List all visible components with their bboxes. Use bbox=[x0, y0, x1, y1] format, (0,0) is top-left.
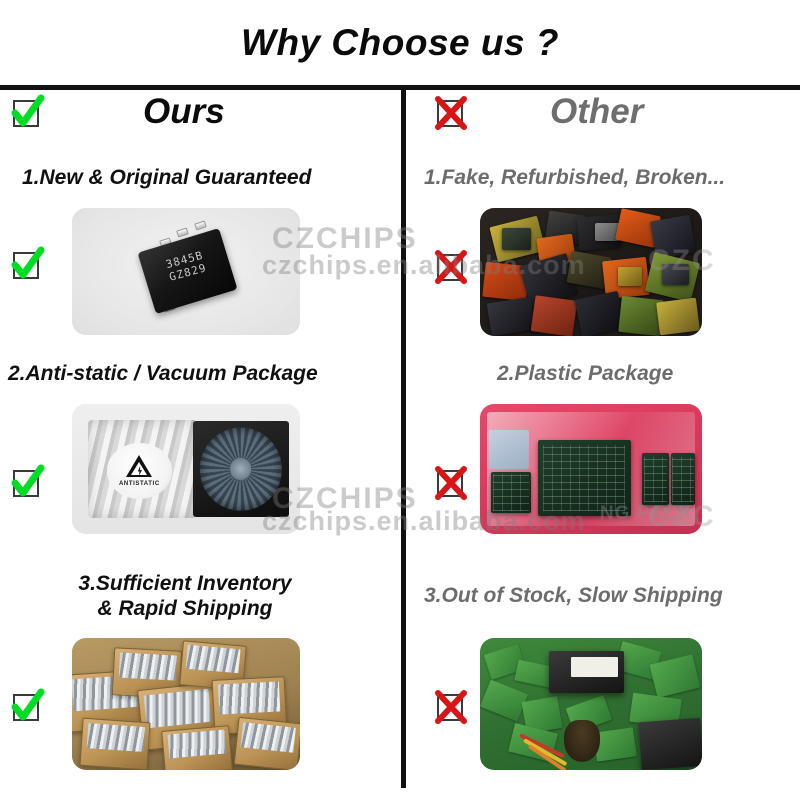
check-mark-icon-header-ours bbox=[10, 96, 44, 130]
pcb-right-b bbox=[671, 453, 695, 505]
check-glyph bbox=[10, 248, 44, 282]
wire-bundle bbox=[564, 720, 600, 762]
why-choose-us-comparison-graphic: Why Choose us ? Ours Other 1.New & Origi… bbox=[0, 0, 800, 800]
component-reel-disc bbox=[200, 428, 282, 511]
photo-plastic-bagged-pcbs: NG PACK bbox=[480, 404, 702, 534]
chip-marking: 3845B GZ829 bbox=[141, 242, 230, 289]
column-divider-rule bbox=[401, 88, 406, 788]
pcb-right-a bbox=[642, 453, 669, 505]
antistatic-label-disc: ANTISTATIC bbox=[107, 443, 173, 498]
other-row-2-text: 2.Plastic Package bbox=[497, 362, 673, 387]
esd-warning-triangle-icon bbox=[126, 455, 152, 477]
check-mark-icon-row-3 bbox=[10, 690, 44, 724]
lightning-bolt-icon bbox=[137, 466, 142, 476]
pcb-large bbox=[538, 440, 631, 515]
photo-stocked-cartons bbox=[72, 638, 300, 770]
cross-mark-icon-row-3 bbox=[434, 690, 468, 724]
check-glyph bbox=[10, 96, 44, 130]
pcb-small-left bbox=[491, 472, 531, 514]
antistatic-bag: ANTISTATIC bbox=[88, 420, 197, 519]
check-glyph bbox=[10, 466, 44, 500]
chip-body: 3845B GZ829 bbox=[137, 227, 237, 313]
column-header-other: Other bbox=[550, 92, 643, 132]
check-glyph bbox=[10, 690, 44, 724]
antistatic-label-text: ANTISTATIC bbox=[119, 481, 160, 487]
cross-glyph bbox=[434, 96, 468, 130]
check-mark-icon-row-1 bbox=[10, 248, 44, 282]
photo-original-chip: 3845B GZ829 bbox=[72, 208, 300, 335]
header-divider-rule bbox=[0, 85, 800, 90]
black-slab bbox=[638, 718, 702, 770]
photo-scrap-cpu-pile bbox=[480, 208, 702, 336]
cross-glyph bbox=[434, 690, 468, 724]
cross-glyph bbox=[434, 466, 468, 500]
pcb-bag-blue bbox=[489, 430, 529, 469]
other-row-1-text: 1.Fake, Refurbished, Broken... bbox=[424, 166, 725, 191]
photo-green-pcb-scrap bbox=[480, 638, 702, 770]
column-header-ours: Ours bbox=[143, 92, 225, 132]
cross-mark-icon-row-1 bbox=[434, 250, 468, 284]
cross-glyph bbox=[434, 250, 468, 284]
page-title: Why Choose us ? bbox=[0, 22, 800, 64]
photo-antistatic-vacuum-pack: ANTISTATIC bbox=[72, 404, 300, 534]
cross-mark-icon-row-2 bbox=[434, 466, 468, 500]
ours-row-2-text: 2.Anti-static / Vacuum Package bbox=[8, 362, 318, 387]
black-module bbox=[549, 651, 624, 693]
cross-mark-icon-header-other bbox=[434, 96, 468, 130]
ours-row-1-text: 1.New & Original Guaranteed bbox=[22, 166, 311, 191]
other-row-3-text: 3.Out of Stock, Slow Shipping bbox=[424, 584, 723, 609]
component-reel-tray bbox=[193, 421, 289, 517]
chip-assembly: 3845B GZ829 bbox=[136, 226, 245, 317]
module-sticker bbox=[571, 657, 618, 677]
check-mark-icon-row-2 bbox=[10, 466, 44, 500]
ours-row-3-text: 3.Sufficient Inventory & Rapid Shipping bbox=[54, 572, 316, 621]
